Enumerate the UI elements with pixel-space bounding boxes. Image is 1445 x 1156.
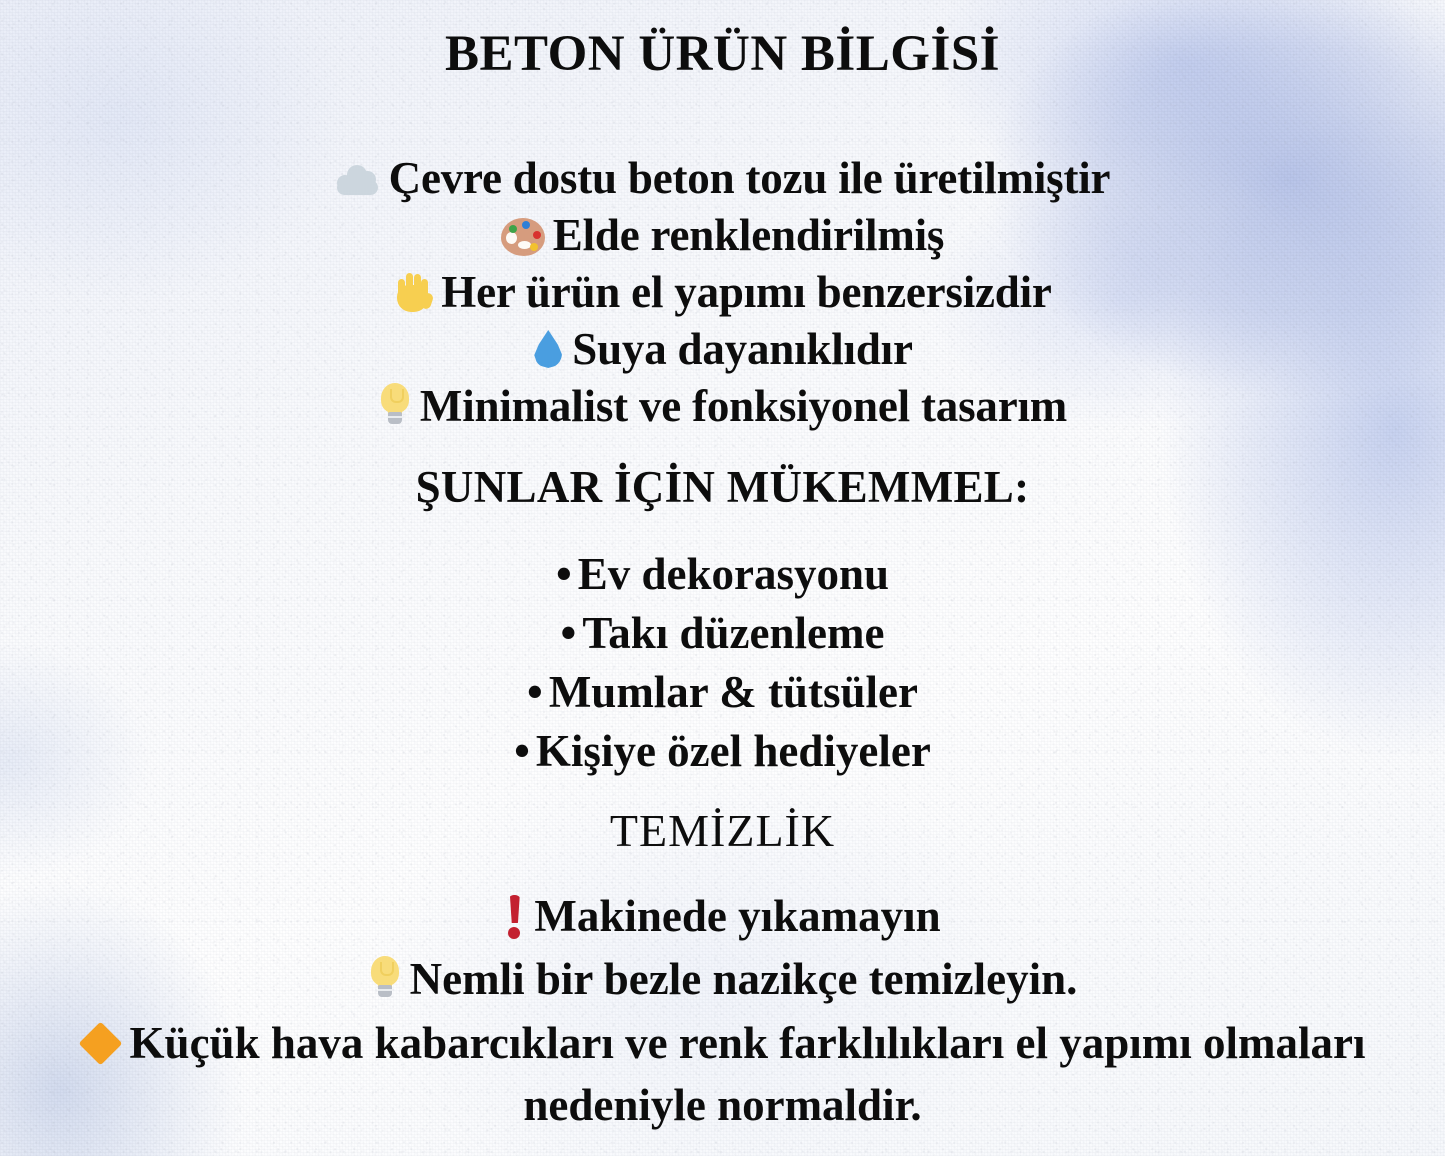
bullet-icon: •	[514, 726, 530, 776]
handmade-variation-note: Küçük hava kabarcıkları ve renk farklılı…	[53, 1012, 1393, 1136]
orange-diamond-icon	[80, 1023, 122, 1065]
note-label: Küçük hava kabarcıkları ve renk farklılı…	[130, 1018, 1366, 1130]
bullet-icon: •	[527, 667, 543, 717]
list-item: •Kişiye özel hediyeler	[0, 722, 1445, 781]
perfect-for-list: •Ev dekorasyonu •Takı düzenleme •Mumlar …	[0, 545, 1445, 781]
list-item-label: Kişiye özel hediyeler	[536, 726, 931, 776]
list-item: •Ev dekorasyonu	[0, 545, 1445, 604]
feature-item-hand-colored: Elde renklendirilmiş	[0, 207, 1445, 264]
product-info-card: BETON ÜRÜN BİLGİSİ Çevre dostu beton toz…	[0, 0, 1445, 1156]
features-list: Çevre dostu beton tozu ile üretilmiştir …	[0, 150, 1445, 435]
water-droplet-icon	[532, 328, 564, 370]
care-label: Nemli bir bezle nazikçe temizleyin.	[410, 954, 1078, 1004]
list-item: •Mumlar & tütsüler	[0, 663, 1445, 722]
light-bulb-icon	[378, 383, 412, 427]
feature-label: Suya dayanıklıdır	[572, 324, 913, 374]
care-heading: TEMİZLİK	[0, 804, 1445, 857]
cloud-icon	[335, 165, 381, 199]
feature-label: Her ürün el yapımı benzersizdir	[441, 267, 1051, 317]
light-bulb-icon	[368, 956, 402, 1000]
list-item-label: Takı düzenleme	[582, 608, 884, 658]
bullet-icon: •	[561, 608, 577, 658]
bullet-icon: •	[556, 549, 572, 599]
feature-label: Minimalist ve fonksiyonel tasarım	[420, 381, 1067, 431]
care-item-no-machine-wash: Makinede yıkamayın	[0, 885, 1445, 948]
page-title: BETON ÜRÜN BİLGİSİ	[0, 26, 1445, 82]
care-item-damp-cloth: Nemli bir bezle nazikçe temizleyin.	[0, 948, 1445, 1011]
raised-hand-icon	[393, 271, 433, 313]
feature-item-water-resistant: Suya dayanıklıdır	[0, 321, 1445, 378]
feature-label: Elde renklendirilmiş	[553, 210, 944, 260]
list-item: •Takı düzenleme	[0, 604, 1445, 663]
list-item-label: Ev dekorasyonu	[578, 549, 889, 599]
card-content: BETON ÜRÜN BİLGİSİ Çevre dostu beton toz…	[0, 0, 1445, 1156]
list-item-label: Mumlar & tütsüler	[549, 667, 918, 717]
feature-item-eco: Çevre dostu beton tozu ile üretilmiştir	[0, 150, 1445, 207]
care-label: Makinede yıkamayın	[534, 891, 940, 941]
palette-icon	[501, 218, 545, 256]
perfect-for-heading: ŞUNLAR İÇİN MÜKEMMEL:	[0, 461, 1445, 513]
care-list: Makinede yıkamayın Nemli bir bezle nazik…	[0, 885, 1445, 1011]
feature-item-minimalist: Minimalist ve fonksiyonel tasarım	[0, 378, 1445, 435]
feature-label: Çevre dostu beton tozu ile üretilmiştir	[389, 153, 1111, 203]
red-exclamation-icon	[504, 895, 526, 939]
feature-item-handmade: Her ürün el yapımı benzersizdir	[0, 264, 1445, 321]
